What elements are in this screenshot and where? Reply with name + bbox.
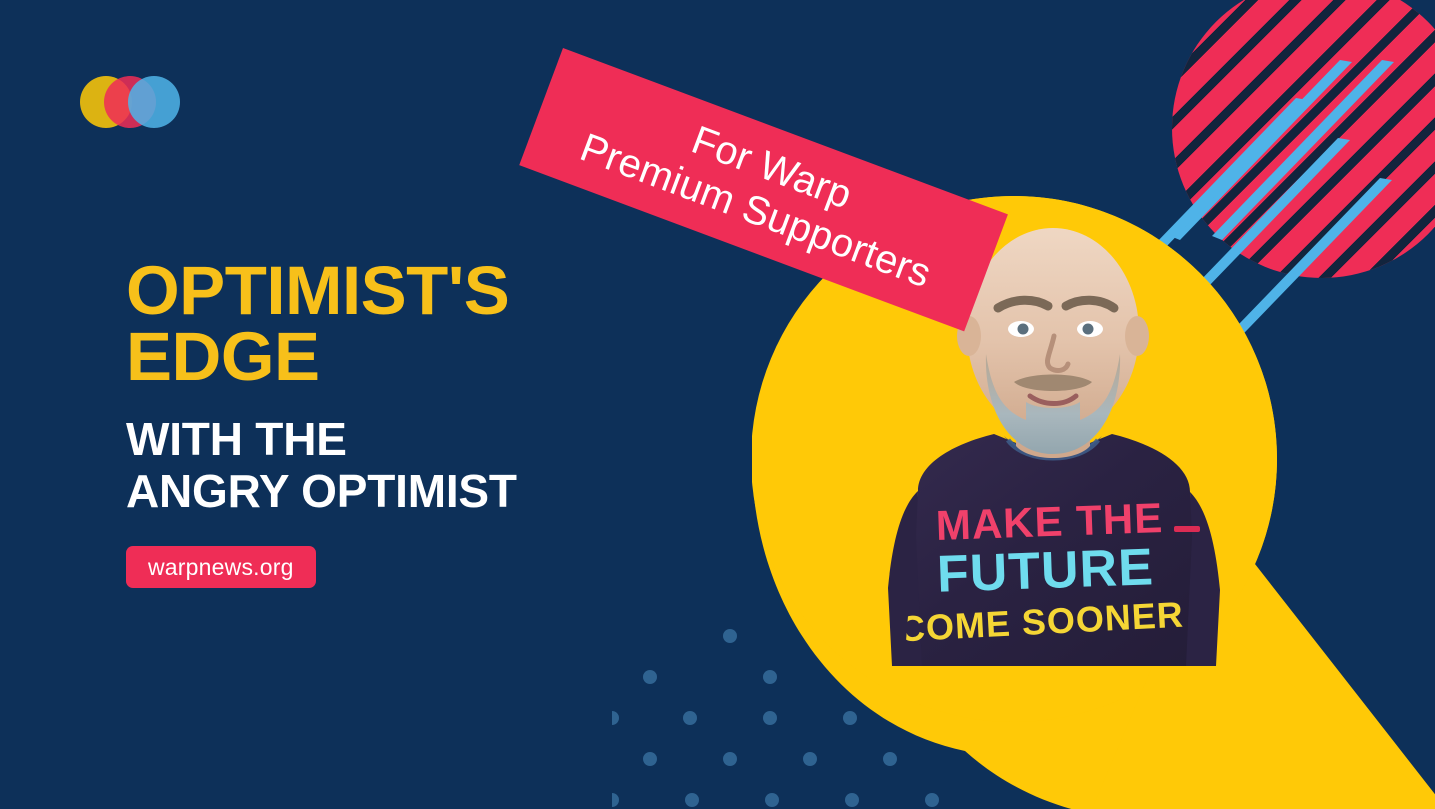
logo-blue-circle-icon <box>128 76 180 128</box>
svg-text:FUTURE: FUTURE <box>936 538 1155 604</box>
title-line-2: EDGE <box>126 318 320 395</box>
page-subtitle: WITH THE ANGRY OPTIMIST <box>126 414 596 518</box>
poster-canvas: MAKE THE FUTURE COME SOONER For Warp Pre… <box>0 0 1435 809</box>
headline-block: OPTIMIST'S EDGE WITH THE ANGRY OPTIMIST <box>126 258 596 518</box>
page-title: OPTIMIST'S EDGE <box>126 258 596 390</box>
dot-grid-pattern <box>612 616 1032 809</box>
warp-news-logo[interactable] <box>80 76 180 128</box>
subtitle-line-2: ANGRY OPTIMIST <box>126 465 517 517</box>
subtitle-line-1: WITH THE <box>126 413 347 465</box>
warpnews-url-button[interactable]: warpnews.org <box>126 546 316 588</box>
